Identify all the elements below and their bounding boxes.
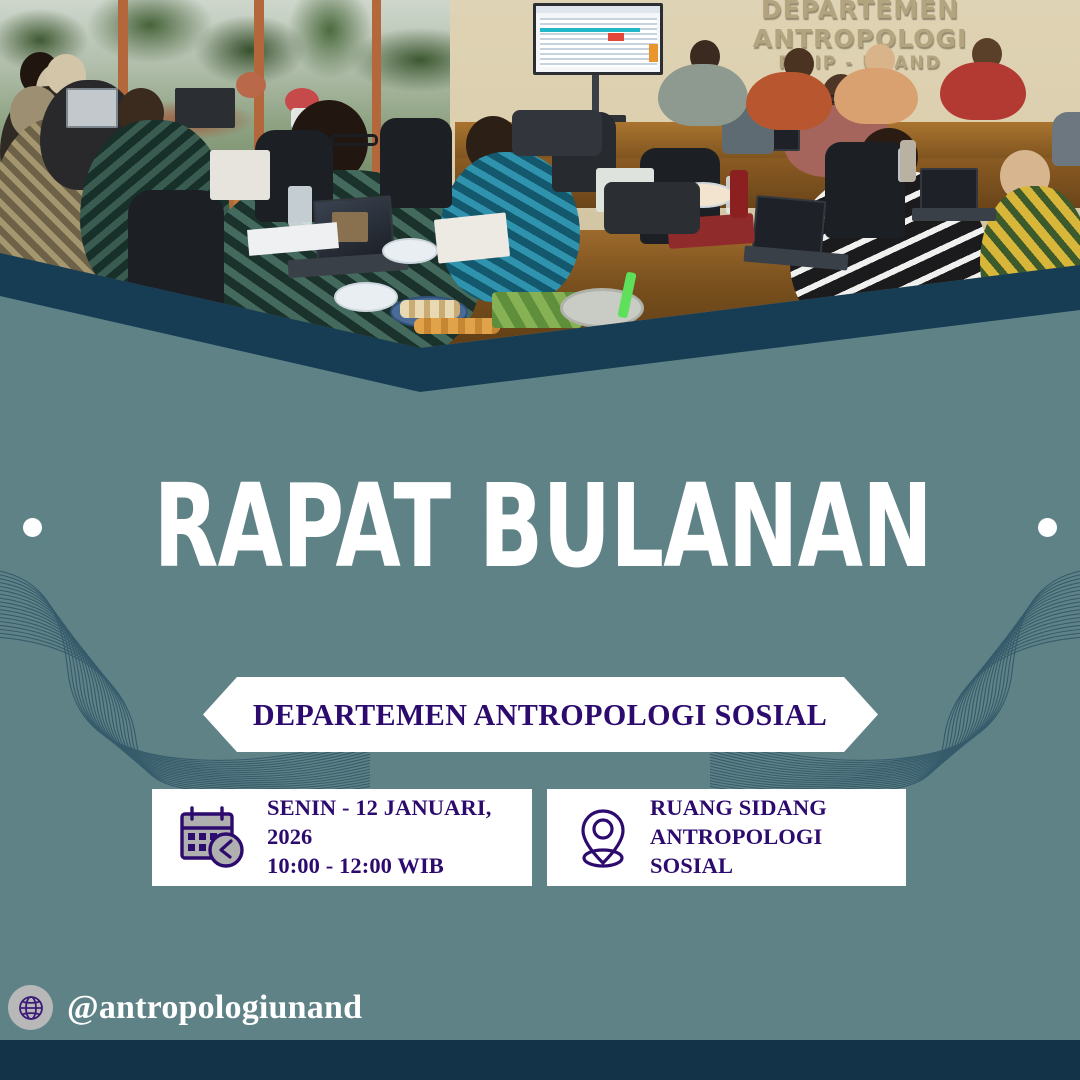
photo-snacks (400, 300, 460, 318)
subtitle-banner-label: DEPARTEMEN ANTROPOLOGI SOSIAL (253, 697, 827, 733)
globe-icon[interactable] (8, 985, 53, 1030)
photo-person-glasses (330, 134, 378, 146)
date-line-2: 10:00 - 12:00 WIB (267, 852, 532, 881)
date-line-1: SENIN - 12 JANUARI, 2026 (267, 794, 532, 852)
photo-person-body (940, 62, 1026, 120)
photo-tissue-box (210, 150, 270, 200)
date-card-text: SENIN - 12 JANUARI, 2026 10:00 - 12:00 W… (267, 794, 532, 880)
title-dots-left (0, 517, 42, 537)
page-title: RAPAT BULANAN (154, 469, 933, 584)
title-dots-right (1038, 517, 1080, 537)
place-card: RUANG SIDANG ANTROPOLOGI SOSIAL (547, 789, 906, 886)
photo-chair (825, 142, 905, 238)
photo-person-body (658, 64, 748, 126)
photo-chair (380, 118, 452, 208)
decor-dot (1038, 518, 1057, 537)
photo-plate (382, 238, 438, 264)
photo-thermos (730, 170, 748, 218)
subtitle-banner: DEPARTEMEN ANTROPOLOGI SOSIAL (203, 677, 878, 752)
photo-napkin (434, 212, 510, 263)
photo-projector-screen (533, 3, 663, 75)
social-handle[interactable]: @antropologiunand (67, 989, 362, 1027)
photo-bottle (900, 140, 916, 182)
photo-bag (604, 182, 700, 234)
poster-root: DEPARTEMEN ANTROPOLOGI FISIP - UNAND (0, 0, 1080, 1080)
photo-person-body (834, 68, 918, 124)
photo-snacks (414, 318, 500, 334)
photo-laptop-screen (920, 168, 978, 212)
bottom-bar (0, 1040, 1080, 1080)
place-line-1: RUANG SIDANG (650, 794, 906, 823)
place-card-text: RUANG SIDANG ANTROPOLOGI SOSIAL (650, 794, 906, 880)
photo-flowers (236, 72, 266, 98)
decor-dot (23, 518, 42, 537)
map-pin-icon (575, 806, 631, 870)
footer: @antropologiunand (0, 975, 1080, 1040)
title-row: RAPAT BULANAN (0, 468, 1080, 586)
date-card: SENIN - 12 JANUARI, 2026 10:00 - 12:00 W… (152, 789, 532, 886)
photo-chair (1052, 112, 1080, 166)
place-line-2: ANTROPOLOGI SOSIAL (650, 823, 906, 881)
photo-laptop-base (912, 208, 996, 221)
photo-tablet (66, 88, 118, 128)
photo-water-glass (288, 186, 312, 228)
calendar-clock-icon (178, 806, 250, 870)
photo-equipment (175, 88, 235, 128)
photo-plate (334, 282, 398, 312)
photo-person-body (746, 72, 832, 130)
photo-bag (512, 110, 602, 156)
